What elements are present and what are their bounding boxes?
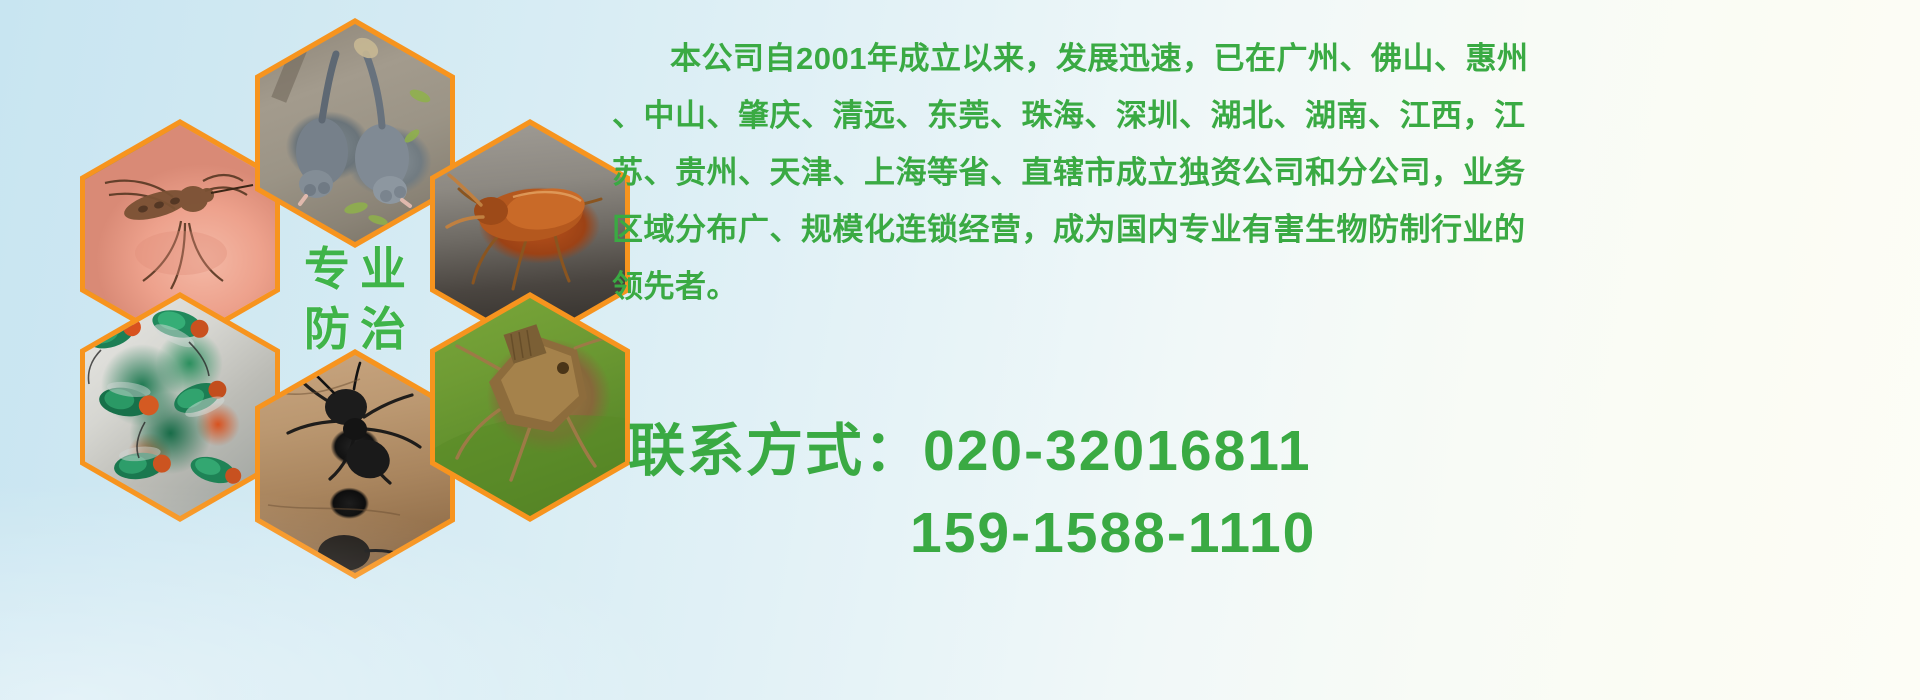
slogan-line-2: 防治 [294,305,416,353]
description-line: 本公司自2001年成立以来，发展迅速，已在广州、佛山、惠州 [612,30,1912,87]
description-line: 、中山、肇庆、清远、东莞、珠海、深圳、湖北、湖南、江西，江 [612,87,1912,144]
stinkbug-photo [435,298,625,516]
fly [170,374,233,423]
description-line: 领先者。 [612,258,1912,315]
hex-tile-flies [80,292,280,522]
slogan: 专业 防治 [255,184,455,414]
contact-phone-secondary[interactable]: 159-1588-1110 [628,492,1878,574]
hex-inner [85,298,275,516]
promo-banner: 专业 防治 本公司自2001年成立以来，发展迅速，已在广州、佛山、惠州 、中山、… [0,0,1920,700]
contact-info: 联系方式：020-32016811 159-1588-1110 [628,410,1878,574]
company-description: 本公司自2001年成立以来，发展迅速，已在广州、佛山、惠州 、中山、肇庆、清远、… [612,30,1912,315]
rat-right [355,54,410,206]
hex-tile-center-label: 专业 防治 [255,184,455,414]
rat-left [296,54,348,204]
contact-phone-primary[interactable]: 联系方式：020-32016811 [628,410,1878,492]
hex-inner [435,298,625,516]
hexagon-photo-cluster: 专业 防治 [80,4,580,579]
flies-illustration [85,298,275,516]
fly [97,379,161,421]
slogan-line-1: 专业 [294,245,416,293]
fly [148,306,211,354]
description-line: 区域分布广、规模化连锁经营，成为国内专业有害生物防制行业的 [612,201,1912,258]
description-line: 苏、贵州、天津、上海等省、直辖市成立独资公司和分公司，业务 [612,144,1912,201]
hex-tile-stinkbug [430,292,630,522]
stinkbug-illustration [435,298,625,516]
fly [188,452,245,489]
flies-photo [85,298,275,516]
fly [112,444,172,482]
